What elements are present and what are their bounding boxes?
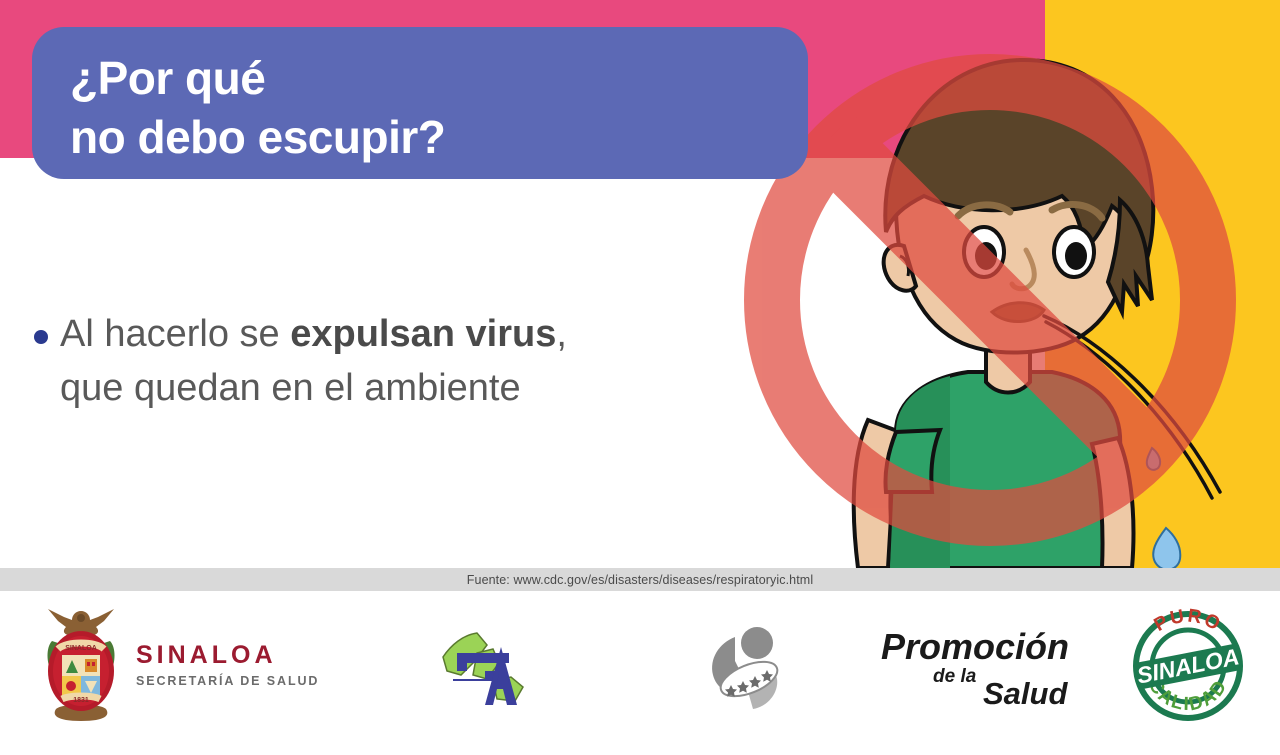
promo-word-2: de la (933, 666, 976, 688)
sinaloa-coat-of-arms-icon: SINALOA 1831 (40, 605, 122, 725)
promo-word-3: Salud (983, 676, 1067, 712)
svg-text:1831: 1831 (73, 697, 89, 704)
promocion-figure-icon (705, 619, 791, 711)
puro-sinaloa-calidad-stamp-icon: PURO CALIDAD SINALOA (1125, 603, 1251, 729)
bullet-text-suffix: , (556, 313, 567, 355)
logo-salud-sinaloa-mark (437, 623, 533, 709)
bullet-text-prefix: Al hacerlo se (60, 313, 290, 355)
svg-text:SINALOA: SINALOA (65, 645, 97, 652)
stamp-middle-text: SINALOA (1135, 643, 1242, 688)
background-yellow-panel (1045, 0, 1280, 568)
source-bar: Fuente: www.cdc.gov/es/disasters/disease… (0, 568, 1280, 591)
footer-logo-strip: SINALOA 1831 SINALOA SECRETARÍA DE S (0, 591, 1280, 755)
logo-sinaloa-gov: SINALOA 1831 SINALOA SECRETARÍA DE S (40, 605, 319, 725)
logo-sinaloa-subtitle: SECRETARÍA DE SALUD (136, 674, 319, 688)
title-line-2: no debo escupir? (70, 108, 808, 167)
bullet-item: Al hacerlo se expulsan virus, que quedan… (34, 308, 734, 416)
logo-puro-sinaloa-calidad: PURO CALIDAD SINALOA (1125, 603, 1251, 729)
bullet-text-bold: expulsan virus (290, 313, 556, 355)
salud-sinaloa-mark-icon (437, 623, 533, 709)
bullet-text-line2: que quedan en el ambiente (60, 367, 521, 409)
body-copy: Al hacerlo se expulsan virus, que quedan… (34, 308, 734, 416)
source-text: Fuente: www.cdc.gov/es/disasters/disease… (467, 573, 813, 587)
title-line-1: ¿Por qué (70, 49, 808, 108)
promo-word-1: Promoción (881, 626, 1069, 668)
logo-promocion-salud: Promoción de la Salud (705, 619, 1083, 711)
logo-sinaloa-title: SINALOA (136, 642, 319, 670)
bullet-text: Al hacerlo se expulsan virus, que quedan… (60, 308, 567, 416)
title-callout: ¿Por qué no debo escupir? (32, 27, 808, 179)
poster-canvas: ¿Por qué no debo escupir? Al hacerlo se … (0, 0, 1280, 755)
bullet-dot-icon (34, 330, 48, 344)
